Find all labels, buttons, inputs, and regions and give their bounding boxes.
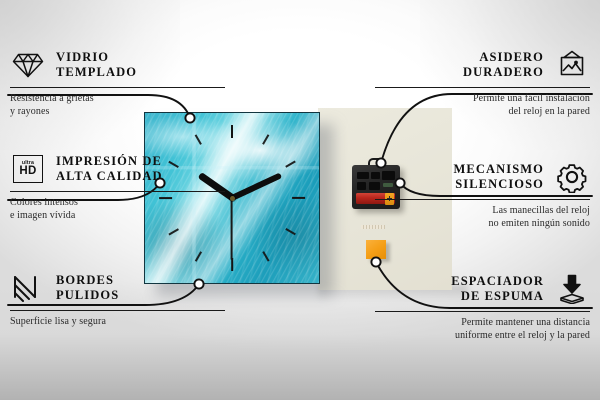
feature-impresion-alta-calidad: ultra HD IMPRESIÓN DE ALTA CALIDAD Color… (10, 152, 225, 222)
feature-divider (10, 87, 225, 88)
feature-title-line1: IMPRESIÓN DE (56, 154, 162, 168)
feature-desc-line1: Permite mantener una distancia (461, 317, 590, 328)
diamond-icon (10, 48, 46, 82)
feature-title-line2: DURADERO (463, 65, 544, 79)
down-arrow-stack-icon (554, 272, 590, 306)
feature-title-line2: SILENCIOSO (455, 177, 544, 191)
feature-desc-line2: uniforme entre el reloj y la pared (455, 330, 590, 341)
feature-title: ASIDERO DURADERO (463, 50, 544, 80)
feature-description: Permite una fácil instalación del reloj … (375, 93, 590, 118)
feature-title-line1: VIDRIO (56, 50, 109, 64)
feature-divider (10, 191, 225, 192)
feature-header: ESPACIADOR DE ESPUMA (375, 272, 590, 306)
feature-description: Resistencia a grietas y rayones (10, 93, 225, 118)
feature-title-line1: BORDES (56, 273, 114, 287)
feature-desc-line1: Colores intensos (10, 197, 78, 208)
feature-title: MECANISMO SILENCIOSO (454, 162, 544, 192)
feature-vidrio-templado: VIDRIO TEMPLADO Resistencia a grietas y … (10, 48, 225, 118)
feature-title-line2: DE ESPUMA (461, 289, 544, 303)
ultra-hd-badge-icon: ultra HD (10, 152, 46, 186)
feature-title-line1: MECANISMO (454, 162, 544, 176)
feature-description: Colores intensos e imagen vívida (10, 197, 225, 222)
feature-divider (375, 311, 590, 312)
gear-icon (554, 160, 590, 194)
feature-title: IMPRESIÓN DE ALTA CALIDAD (56, 154, 163, 184)
feature-bordes-pulidos: BORDES PULIDOS Superficie lisa y segura (10, 271, 225, 329)
feature-asidero-duradero: ASIDERO DURADERO Permite una fácil insta… (375, 48, 590, 118)
feature-desc-line2: y rayones (10, 106, 50, 117)
feature-desc-line2: del reloj en la pared (508, 106, 590, 117)
feature-espaciador-de-espuma: ESPACIADOR DE ESPUMA Permite mantener un… (375, 272, 590, 342)
hd-badge: ultra HD (13, 155, 43, 183)
feature-desc-line1: Superficie lisa y segura (10, 316, 106, 327)
feature-title-line2: PULIDOS (56, 288, 119, 302)
feature-divider (375, 87, 590, 88)
feature-header: ultra HD IMPRESIÓN DE ALTA CALIDAD (10, 152, 225, 186)
feature-mecanismo-silencioso: MECANISMO SILENCIOSO Las manecillas del … (375, 160, 590, 230)
feature-header: VIDRIO TEMPLADO (10, 48, 225, 82)
feature-header: ASIDERO DURADERO (375, 48, 590, 82)
feature-desc-line2: no emiten ningún sonido (489, 218, 590, 229)
feature-description: Superficie lisa y segura (10, 316, 225, 329)
feature-desc-line1: Permite una fácil instalación (473, 93, 590, 104)
feature-title: ESPACIADOR DE ESPUMA (451, 274, 544, 304)
feature-desc-line2: e imagen vívida (10, 210, 75, 221)
feature-title-line1: ASIDERO (479, 50, 544, 64)
hd-badge-hd-label: HD (19, 166, 36, 178)
feature-header: BORDES PULIDOS (10, 271, 225, 305)
feature-desc-line1: Las manecillas del reloj (492, 205, 590, 216)
polished-edges-icon (10, 271, 46, 305)
hanging-picture-frame-icon (554, 48, 590, 82)
feature-header: MECANISMO SILENCIOSO (375, 160, 590, 194)
feature-title: VIDRIO TEMPLADO (56, 50, 137, 80)
feature-title-line1: ESPACIADOR (451, 274, 544, 288)
feature-desc-line1: Resistencia a grietas (10, 93, 94, 104)
feature-title-line2: ALTA CALIDAD (56, 169, 163, 183)
feature-description: Permite mantener una distancia uniforme … (375, 317, 590, 342)
feature-divider (375, 199, 590, 200)
feature-title: BORDES PULIDOS (56, 273, 119, 303)
feature-title-line2: TEMPLADO (56, 65, 137, 79)
leader-endpoint-right-3 (371, 257, 380, 266)
feature-divider (10, 310, 225, 311)
feature-description: Las manecillas del reloj no emiten ningú… (375, 205, 590, 230)
